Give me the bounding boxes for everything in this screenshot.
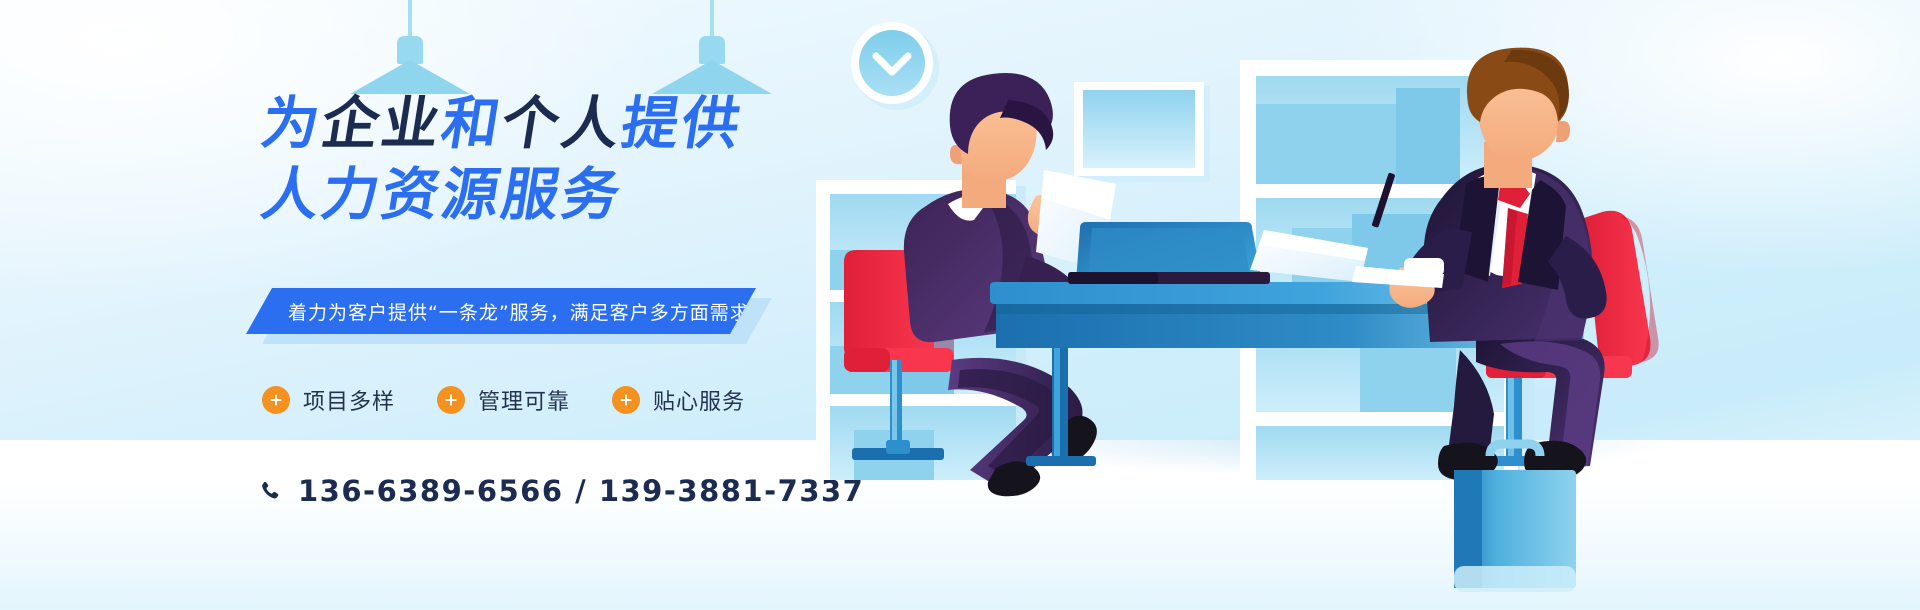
headline-seg-5: 提供: [617, 91, 747, 157]
headline-seg-2: 企业: [317, 91, 447, 157]
headline-line-2: 人力资源服务: [257, 167, 746, 224]
lamp-cord: [710, 0, 714, 38]
framed-picture: [1074, 82, 1210, 182]
feature-label-3: 贴心服务: [653, 384, 745, 416]
phone-icon: [258, 479, 282, 503]
headline-seg-4: 个人: [497, 91, 627, 157]
headline-seg-3: 和: [437, 91, 507, 157]
ribbon-body: 着力为客户提供“一条龙”服务，满足客户多方面需求: [246, 288, 756, 334]
wall-clock: [851, 22, 939, 110]
plus-icon: [437, 386, 465, 414]
plus-icon: [262, 386, 290, 414]
laptop: [1068, 222, 1270, 284]
ribbon-text: 着力为客户提供“一条龙”服务，满足客户多方面需求: [246, 298, 750, 325]
lamp-shade: [350, 60, 470, 94]
feature-item-3[interactable]: 贴心服务: [612, 384, 745, 416]
hr-services-banner: 为企业和个人提供 人力资源服务 着力为客户提供“一条龙”服务，满足客户多方面需求…: [0, 0, 1920, 610]
feature-item-1[interactable]: 项目多样: [262, 384, 395, 416]
headline-line-1: 为企业和个人提供: [257, 96, 746, 153]
pendant-lamp-right: [652, 0, 772, 100]
headline-seg-6: 人力资源服务: [257, 162, 627, 228]
subtitle-ribbon: 着力为客户提供“一条龙”服务，满足客户多方面需求: [246, 288, 756, 334]
feature-label-1: 项目多样: [303, 384, 395, 416]
lamp-shade: [652, 60, 772, 94]
phone-number: 136-6389-6566 / 139-3881-7337: [298, 474, 864, 508]
feature-item-2[interactable]: 管理可靠: [437, 384, 570, 416]
plus-icon: [612, 386, 640, 414]
headline: 为企业和个人提供 人力资源服务: [262, 96, 742, 224]
pendant-lamp-left: [350, 0, 470, 100]
office-interview-illustration: [800, 0, 1920, 610]
lamp-cord: [408, 0, 412, 38]
headline-seg-1: 为: [257, 91, 327, 157]
contact-row[interactable]: 136-6389-6566 / 139-3881-7337: [258, 474, 864, 508]
feature-label-2: 管理可靠: [478, 384, 570, 416]
feature-list: 项目多样 管理可靠 贴心服务: [262, 384, 745, 416]
